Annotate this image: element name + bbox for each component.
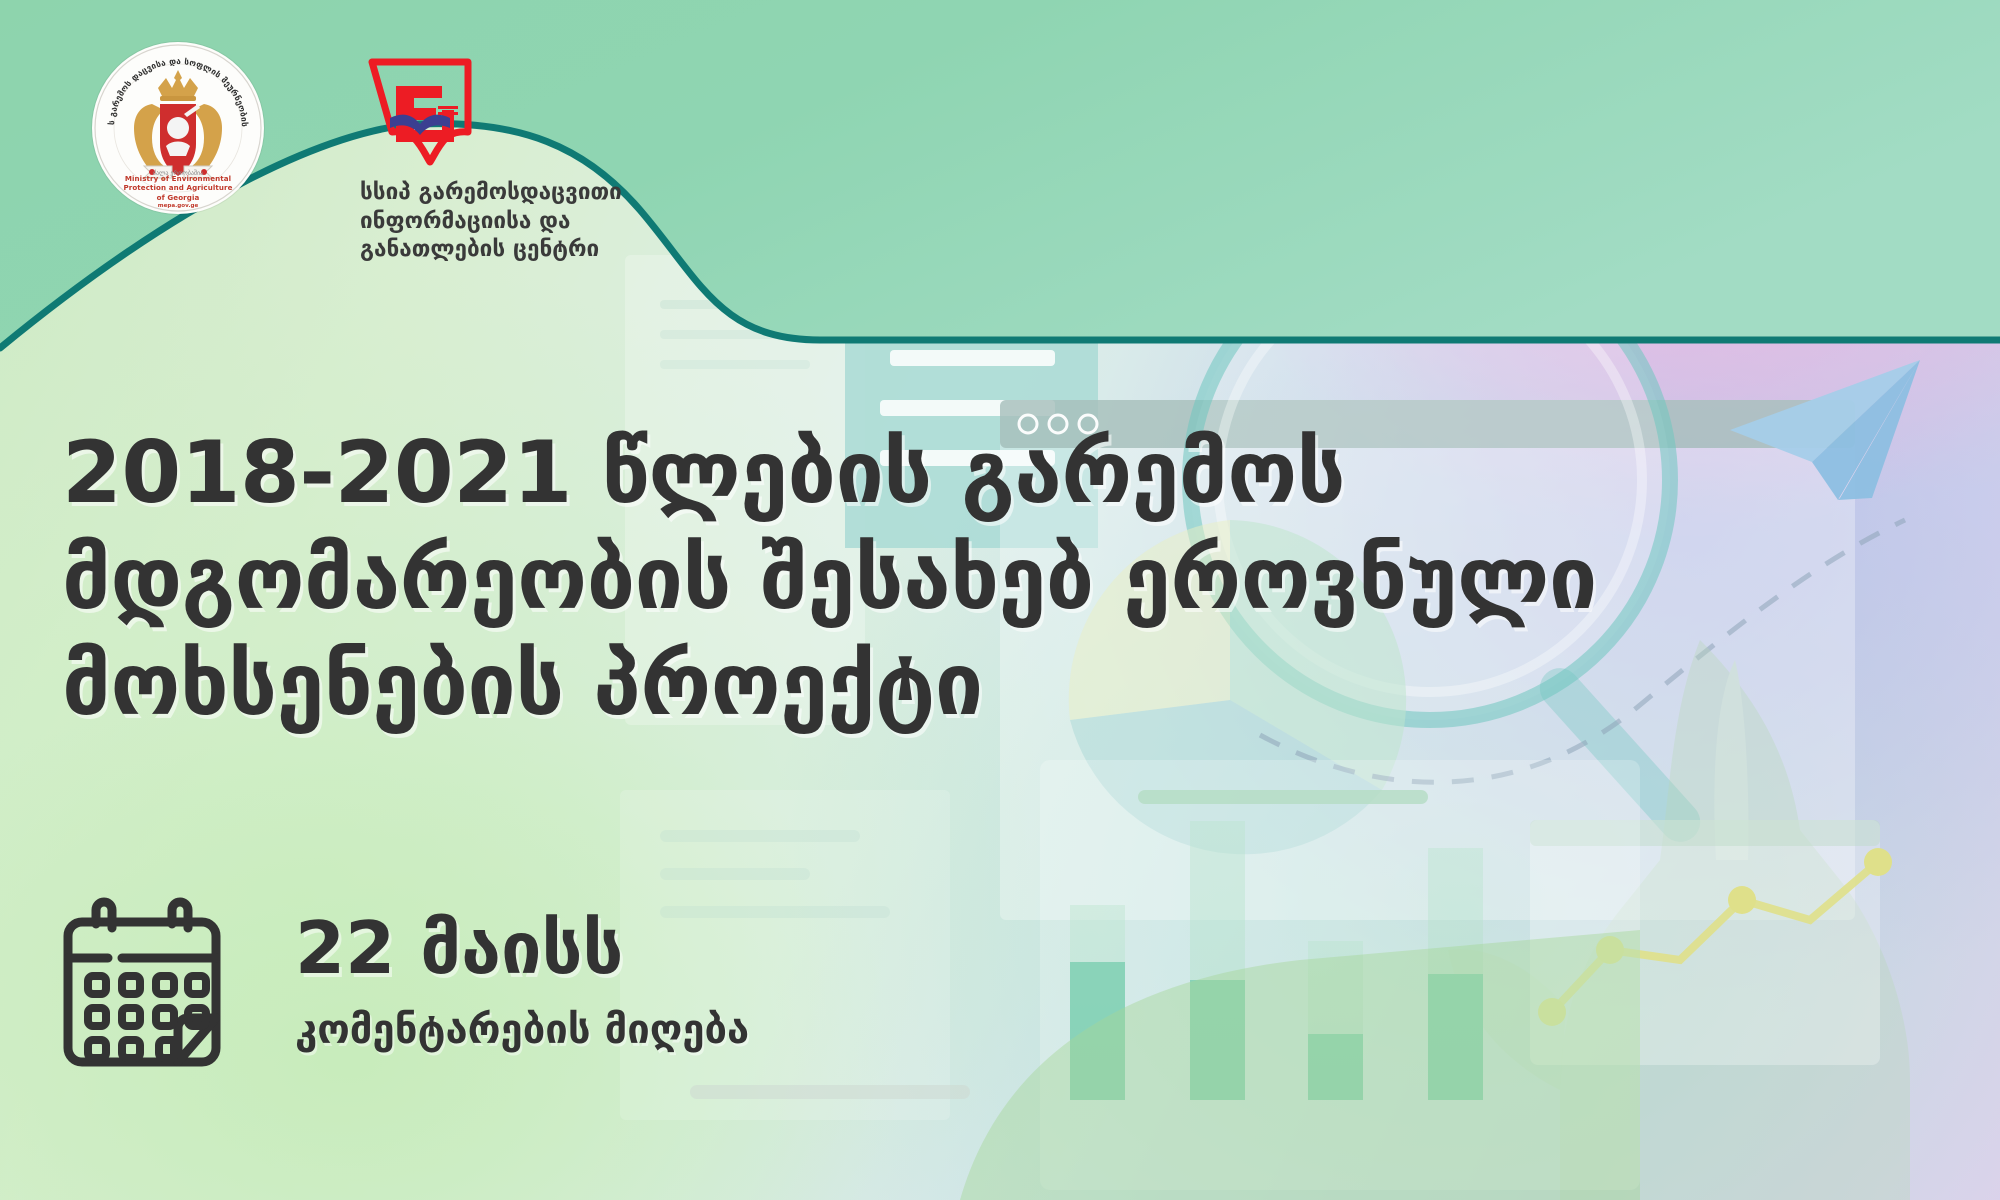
seal-website: mepa.gov.ge [92, 203, 264, 209]
seal-english-text: Ministry of Environmental Protection and… [92, 174, 264, 202]
title-line-3: მოხსენების პროექტი [62, 632, 1842, 738]
title-line-1: 2018-2021 წლების გარემოს [62, 420, 1842, 526]
ministry-seal-logo: საქართველოს გარემოს დაცვისა და სოფლის მე… [92, 42, 264, 214]
center-name: სსიპ გარემოსდაცვითი ინფორმაციისა და განა… [360, 178, 680, 264]
calendar-icon [60, 890, 245, 1080]
center-name-line2: ინფორმაციისა და [360, 207, 680, 236]
title-line-2: მდგომარეობის შესახებ ეროვნული [62, 526, 1842, 632]
deadline-block: 22 მაისს კომენტარების მიღება [60, 880, 910, 1100]
deadline-subtitle: კომენტარების მიღება [295, 1006, 749, 1054]
page-title: 2018-2021 წლების გარემოს მდგომარეობის შე… [62, 420, 1842, 738]
center-logo-mark [362, 56, 478, 168]
center-name-line3: განათლების ცენტრი [360, 235, 680, 264]
poster-canvas: საქართველოს გარემოს დაცვისა და სოფლის მე… [0, 0, 2000, 1200]
logo-group: საქართველოს გარემოს დაცვისა და სოფლის მე… [0, 0, 760, 290]
center-name-line1: სსიპ გარემოსდაცვითი [360, 178, 680, 207]
deadline-date: 22 მაისს [295, 908, 623, 988]
